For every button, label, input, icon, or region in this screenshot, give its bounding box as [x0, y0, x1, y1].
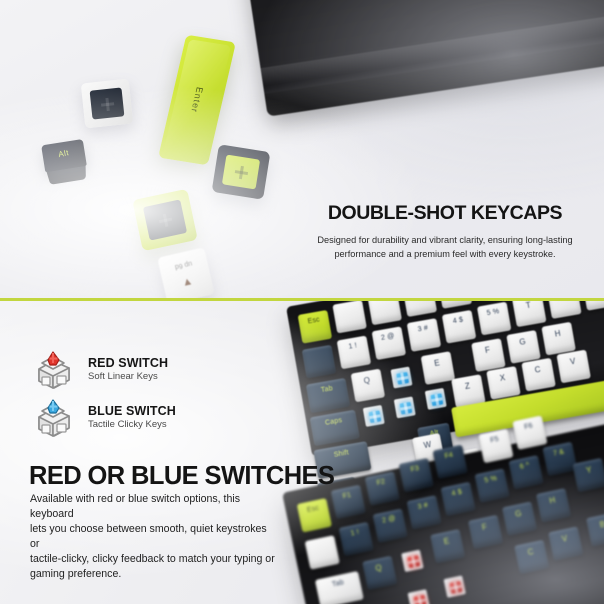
key-g-low: G: [502, 501, 537, 536]
key-label: C: [527, 547, 535, 557]
cherry-cross-stem-icon: [234, 165, 249, 180]
key-label: C: [534, 365, 541, 375]
switch-stem-icon: [449, 580, 462, 593]
page-title-switches: RED OR BLUE SWITCHES: [29, 464, 334, 490]
legend-item-red-switch: RED SWITCH Soft Linear Keys: [31, 348, 176, 391]
key-label: T: [525, 301, 532, 310]
keycaps-description-line-2: performance and a premium feel with ever…: [300, 247, 590, 261]
key-label: Q: [363, 376, 371, 386]
key-esc: Esc: [298, 310, 333, 344]
key-f-low: F: [468, 515, 503, 550]
keyboard-top-right: Win Alt: [236, 0, 604, 151]
key-f3-low: F3: [399, 458, 434, 493]
keycaps-copy-block: DOUBLE-SHOT KEYCAPS Designed for durabil…: [300, 204, 590, 261]
product-feature-page: Win Alt Enter: [0, 0, 604, 604]
key-label: Esc: [307, 316, 320, 325]
keycap-loose-white-inverted: [81, 79, 133, 129]
key-f4-low: F4: [433, 445, 468, 480]
key-h-low: H: [536, 488, 571, 523]
key-label: 1 !: [348, 342, 357, 350]
bare-switch-blue-3: [394, 396, 416, 418]
key-label: E: [443, 536, 450, 546]
key-v: V: [556, 350, 591, 384]
key-label: Shift: [333, 449, 349, 459]
section-double-shot-keycaps: Win Alt Enter: [0, 0, 604, 300]
key-label: 4 $: [451, 489, 463, 498]
switch-stem-icon: [396, 372, 409, 385]
key-label: Z: [464, 381, 471, 391]
key-6-low: 6 ^: [508, 455, 543, 490]
key-label: E: [434, 358, 441, 368]
switches-description-line-1: Available with red or blue switch option…: [30, 492, 277, 522]
key-label: Tab: [321, 385, 334, 394]
legend-text-red: RED SWITCH Soft Linear Keys: [88, 356, 168, 383]
switch-stem-icon: [430, 393, 443, 406]
keycap-underside: [90, 87, 125, 119]
keycap-underside: [222, 155, 260, 190]
section-red-or-blue-switches: Esc 1 ! 2 @ 3 # 4 $ 5 % T: [0, 301, 604, 604]
legend-title-red: RED SWITCH: [88, 356, 168, 370]
switches-description: Available with red or blue switch option…: [30, 492, 277, 582]
switch-legend: RED SWITCH Soft Linear Keys: [31, 348, 176, 444]
key-f5-low: F5: [478, 429, 513, 464]
key-f: F: [471, 338, 506, 372]
keycap-loose-alt: Alt: [41, 139, 89, 185]
key-label: G: [514, 509, 522, 519]
red-switch-icon: [31, 349, 76, 391]
key-5-low: 5 %: [474, 468, 509, 503]
legend-text-blue: BLUE SWITCH Tactile Clicky Keys: [88, 404, 176, 431]
key-label: Q: [375, 563, 383, 573]
bare-switch-blue-2: [363, 405, 385, 427]
key-label: F4: [444, 452, 454, 461]
legend-subtitle-blue: Tactile Clicky Keys: [88, 420, 176, 431]
key-e-low: E: [430, 529, 465, 564]
bare-switch-blue-1: [390, 367, 412, 389]
key-c-low: C: [514, 540, 549, 575]
key-4-low: 4 $: [440, 482, 475, 517]
key-tilde: [302, 345, 337, 379]
key-label: X: [499, 373, 506, 383]
bare-switch-red-3: [443, 575, 466, 598]
keycap-label-arrow: ▼: [181, 275, 194, 289]
key-label: Tab: [332, 579, 345, 588]
key-4: 4 $: [442, 310, 477, 344]
key-x: X: [486, 366, 521, 400]
key-label: Caps: [325, 417, 343, 427]
key-label: 6 ^: [519, 462, 530, 471]
switches-description-line-2: lets you choose between smooth, quiet ke…: [30, 522, 277, 552]
key-f1-low: F1: [331, 485, 366, 520]
keycap-loose-lime-inverted: [132, 189, 198, 252]
key-label: 3 #: [417, 325, 428, 334]
key-label: 3 #: [417, 502, 429, 511]
legend-subtitle-red: Soft Linear Keys: [88, 372, 168, 383]
key-q: Q: [351, 369, 386, 403]
key-q-low: Q: [362, 556, 397, 591]
keycaps-description-line-1: Designed for durability and vibrant clar…: [300, 233, 590, 247]
switch-stem-icon: [407, 555, 420, 568]
section-divider: [0, 298, 604, 301]
page-title-keycaps: DOUBLE-SHOT KEYCAPS: [300, 204, 590, 224]
key-label: 5 %: [484, 475, 498, 484]
key-tilde-low: [305, 535, 340, 570]
key-label: V: [569, 357, 576, 367]
key-label: 4 $: [452, 316, 463, 325]
key-h: H: [541, 322, 576, 356]
bare-switch-red-2: [408, 589, 431, 604]
key-f2-low: F2: [365, 471, 400, 506]
bare-switch-blue-4: [425, 388, 447, 410]
key-label: 1 !: [350, 529, 360, 538]
key-c: C: [521, 358, 556, 392]
blue-switch-icon: [31, 397, 76, 439]
key-label: 2 @: [382, 515, 397, 525]
key-label: Esc: [306, 505, 319, 514]
key-label: Y: [585, 465, 592, 475]
key-3: 3 #: [407, 318, 442, 352]
keycaps-description: Designed for durability and vibrant clar…: [300, 233, 590, 262]
key-label: W: [423, 440, 432, 450]
switch-stem-icon: [413, 594, 426, 604]
key-g: G: [506, 330, 541, 364]
keycap-loose-pgup: up 6d ▼: [157, 247, 215, 300]
legend-item-blue-switch: BLUE SWITCH Tactile Clicky Keys: [31, 396, 176, 439]
key-2: 2 @: [372, 326, 407, 360]
key-label: F2: [376, 478, 386, 487]
key-2-low: 2 @: [372, 508, 407, 543]
key-label: H: [554, 329, 561, 339]
key-label: F: [481, 522, 488, 532]
key-label: 2 @: [381, 333, 396, 342]
key-label: F: [484, 345, 491, 355]
key-1-low: 1 !: [339, 522, 374, 557]
key-e: E: [421, 351, 456, 385]
key-label: V: [561, 534, 568, 544]
switch-stem-icon: [368, 410, 381, 423]
key-esc-low: Esc: [297, 498, 332, 533]
key-label: G: [519, 337, 527, 347]
key-1: 1 !: [337, 336, 372, 370]
key-f1: [332, 301, 367, 333]
key-label: F5: [490, 436, 500, 445]
switches-description-line-3: tactile-clicky, clicky feedback to match…: [30, 552, 277, 567]
keycap-face: [157, 247, 215, 300]
key-label: H: [549, 495, 557, 505]
key-label: B: [599, 520, 604, 530]
key-label: F6: [524, 422, 534, 431]
key-label: Y: [560, 301, 567, 302]
key-label: 5 %: [486, 308, 500, 317]
keycap-loose-dark-inverted: [212, 144, 271, 200]
switch-stem-icon: [399, 401, 412, 414]
key-y-low: Y: [572, 458, 604, 493]
key-7-low: 7 &: [542, 442, 577, 477]
key-label: F3: [410, 465, 420, 474]
legend-title-blue: BLUE SWITCH: [88, 404, 176, 418]
switches-description-line-4: gaming preference.: [30, 567, 277, 582]
bare-switch-red-1: [401, 550, 424, 573]
cherry-cross-stem-icon: [100, 97, 114, 111]
key-label: F1: [342, 492, 352, 501]
cherry-cross-stem-icon: [158, 213, 173, 228]
key-v-low: V: [548, 526, 583, 561]
key-3-low: 3 #: [406, 495, 441, 530]
key-5: 5 %: [477, 302, 512, 336]
key-label: 7 &: [553, 449, 565, 458]
key-f6-low: F6: [512, 415, 547, 450]
